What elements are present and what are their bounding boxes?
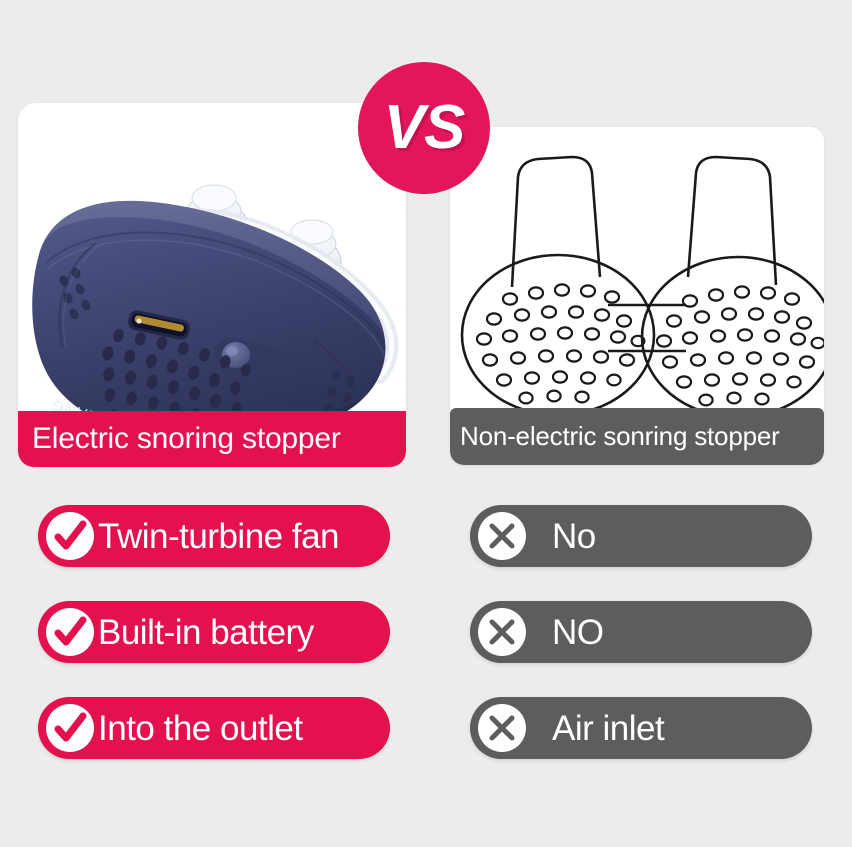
feature-pro-label: Twin-turbine fan — [98, 519, 339, 554]
vs-badge: VS — [358, 62, 490, 194]
x-circle-icon — [478, 704, 526, 752]
check-circle-icon — [46, 512, 94, 560]
x-circle-icon — [478, 512, 526, 560]
feature-row: Into the outlet Air inlet — [0, 697, 852, 793]
feature-pro-pill[interactable]: Built-in battery — [38, 601, 390, 663]
feature-pro-label: Into the outlet — [98, 711, 303, 746]
feature-con-pill[interactable]: No — [470, 505, 812, 567]
caption-nonelectric-label: Non-electric sonring stopper — [460, 421, 780, 452]
feature-comparison-list: Twin-turbine fan No Built-in battery — [0, 505, 852, 815]
feature-row: Twin-turbine fan No — [0, 505, 852, 601]
caption-nonelectric: Non-electric sonring stopper — [450, 408, 824, 465]
caption-electric-label: Electric snoring stopper — [32, 422, 341, 456]
feature-con-label: Air inlet — [552, 711, 664, 746]
comparison-region: QINCHANG — [0, 0, 852, 480]
feature-row: Built-in battery NO — [0, 601, 852, 697]
check-circle-icon — [46, 704, 94, 752]
feature-con-pill[interactable]: NO — [470, 601, 812, 663]
feature-con-pill[interactable]: Air inlet — [470, 697, 812, 759]
feature-con-label: NO — [552, 615, 604, 650]
left-disc-holes — [477, 284, 644, 403]
feature-pro-pill[interactable]: Twin-turbine fan — [38, 505, 390, 567]
feature-pro-label: Built-in battery — [98, 615, 314, 650]
feature-con-label: No — [552, 519, 596, 554]
caption-electric: Electric snoring stopper — [18, 411, 406, 467]
vs-badge-label: VS — [384, 97, 465, 159]
check-circle-icon — [46, 608, 94, 656]
feature-pro-pill[interactable]: Into the outlet — [38, 697, 390, 759]
x-circle-icon — [478, 608, 526, 656]
